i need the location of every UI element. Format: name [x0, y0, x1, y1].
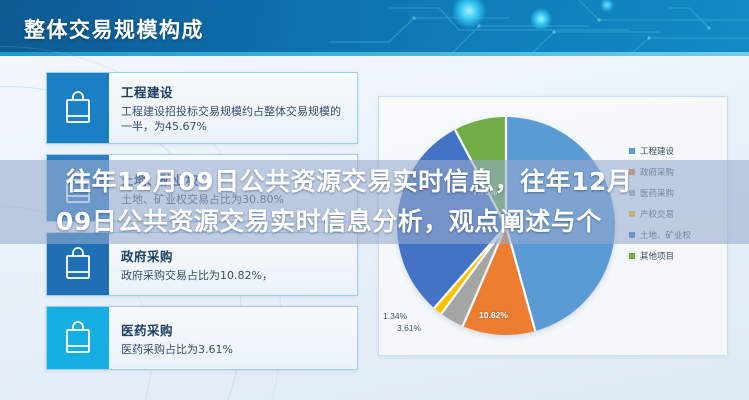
legend-swatch-icon — [629, 169, 635, 175]
legend-item-pharma[interactable]: 医药采购 — [629, 187, 715, 199]
info-card-title: 医药采购 — [121, 320, 349, 339]
info-card-title: 土地、矿业权 — [121, 170, 349, 189]
legend-item-land-mining[interactable]: 土地、矿业权 — [629, 229, 715, 241]
info-card-desc: 工程建设招投标交易规模约占整体交易规模的一半，为45.67% — [121, 104, 349, 134]
info-card-body: 政府采购 政府采购交易占比为10.82%， — [109, 233, 357, 295]
legend-swatch-icon — [629, 232, 635, 238]
pie-legend: 工程建设 政府采购 医药采购 产权交易 土地、矿业权 其他项目 — [629, 145, 715, 271]
pie-chart[interactable]: 7.76% 1.34% 3.61% 10.82% — [391, 111, 621, 341]
page-title: 整体交易规模构成 — [24, 14, 204, 44]
legend-item-government[interactable]: 政府采购 — [629, 166, 715, 178]
screenshot-root: 整体交易规模构成 工程建设 工程建设招投标交易规模约占整体交易规模的一半，为45… — [0, 0, 749, 400]
legend-label: 政府采购 — [640, 166, 674, 178]
legend-swatch-icon — [629, 253, 635, 259]
legend-item-equity[interactable]: 产权交易 — [629, 208, 715, 220]
info-card-pharmaceutical-procurement[interactable]: 医药采购 医药采购占比为3.61% — [46, 306, 358, 370]
info-card-land-mining[interactable]: 土地、矿业权 土地、矿业权交易占比为30.80% — [46, 154, 358, 222]
pie-label-pharma: 3.61% — [397, 323, 421, 333]
info-card-desc: 政府采购交易占比为10.82%， — [121, 268, 349, 283]
page-banner: 整体交易规模构成 — [0, 0, 749, 56]
legend-item-other[interactable]: 其他项目 — [629, 250, 715, 262]
info-card-title: 工程建设 — [121, 82, 349, 101]
shopping-bag-icon — [47, 233, 109, 295]
shopping-bag-icon — [47, 73, 109, 143]
legend-label: 其他项目 — [640, 250, 674, 262]
pie-chart-panel: 7.76% 1.34% 3.61% 10.82% 工程建设 政府采购 医药采购 … — [378, 96, 728, 356]
legend-swatch-icon — [629, 190, 635, 196]
pie-label-equity: 1.34% — [383, 311, 407, 321]
pie-label-government: 10.82% — [479, 310, 508, 320]
legend-item-engineering[interactable]: 工程建设 — [629, 145, 715, 157]
info-card-title: 政府采购 — [121, 246, 349, 265]
pie-slice-separators — [391, 111, 621, 341]
info-card-body: 工程建设 工程建设招投标交易规模约占整体交易规模的一半，为45.67% — [109, 73, 357, 143]
banner-glow — [530, 8, 552, 30]
legend-label: 土地、矿业权 — [640, 229, 691, 241]
pie-label-other: 7.76% — [473, 187, 497, 197]
legend-swatch-icon — [629, 211, 635, 217]
shopping-bag-icon — [47, 155, 109, 221]
info-card-list: 工程建设 工程建设招投标交易规模约占整体交易规模的一半，为45.67% 土地、矿… — [46, 72, 358, 380]
legend-label: 工程建设 — [640, 145, 674, 157]
info-card-desc: 医药采购占比为3.61% — [121, 342, 349, 357]
info-card-desc: 土地、矿业权交易占比为30.80% — [121, 192, 349, 207]
info-card-body: 医药采购 医药采购占比为3.61% — [109, 307, 357, 369]
legend-label: 医药采购 — [640, 187, 674, 199]
info-card-engineering[interactable]: 工程建设 工程建设招投标交易规模约占整体交易规模的一半，为45.67% — [46, 72, 358, 144]
info-card-body: 土地、矿业权 土地、矿业权交易占比为30.80% — [109, 155, 357, 221]
info-card-government-procurement[interactable]: 政府采购 政府采购交易占比为10.82%， — [46, 232, 358, 296]
legend-swatch-icon — [629, 148, 635, 154]
legend-label: 产权交易 — [640, 208, 674, 220]
shopping-bag-icon — [47, 307, 109, 369]
